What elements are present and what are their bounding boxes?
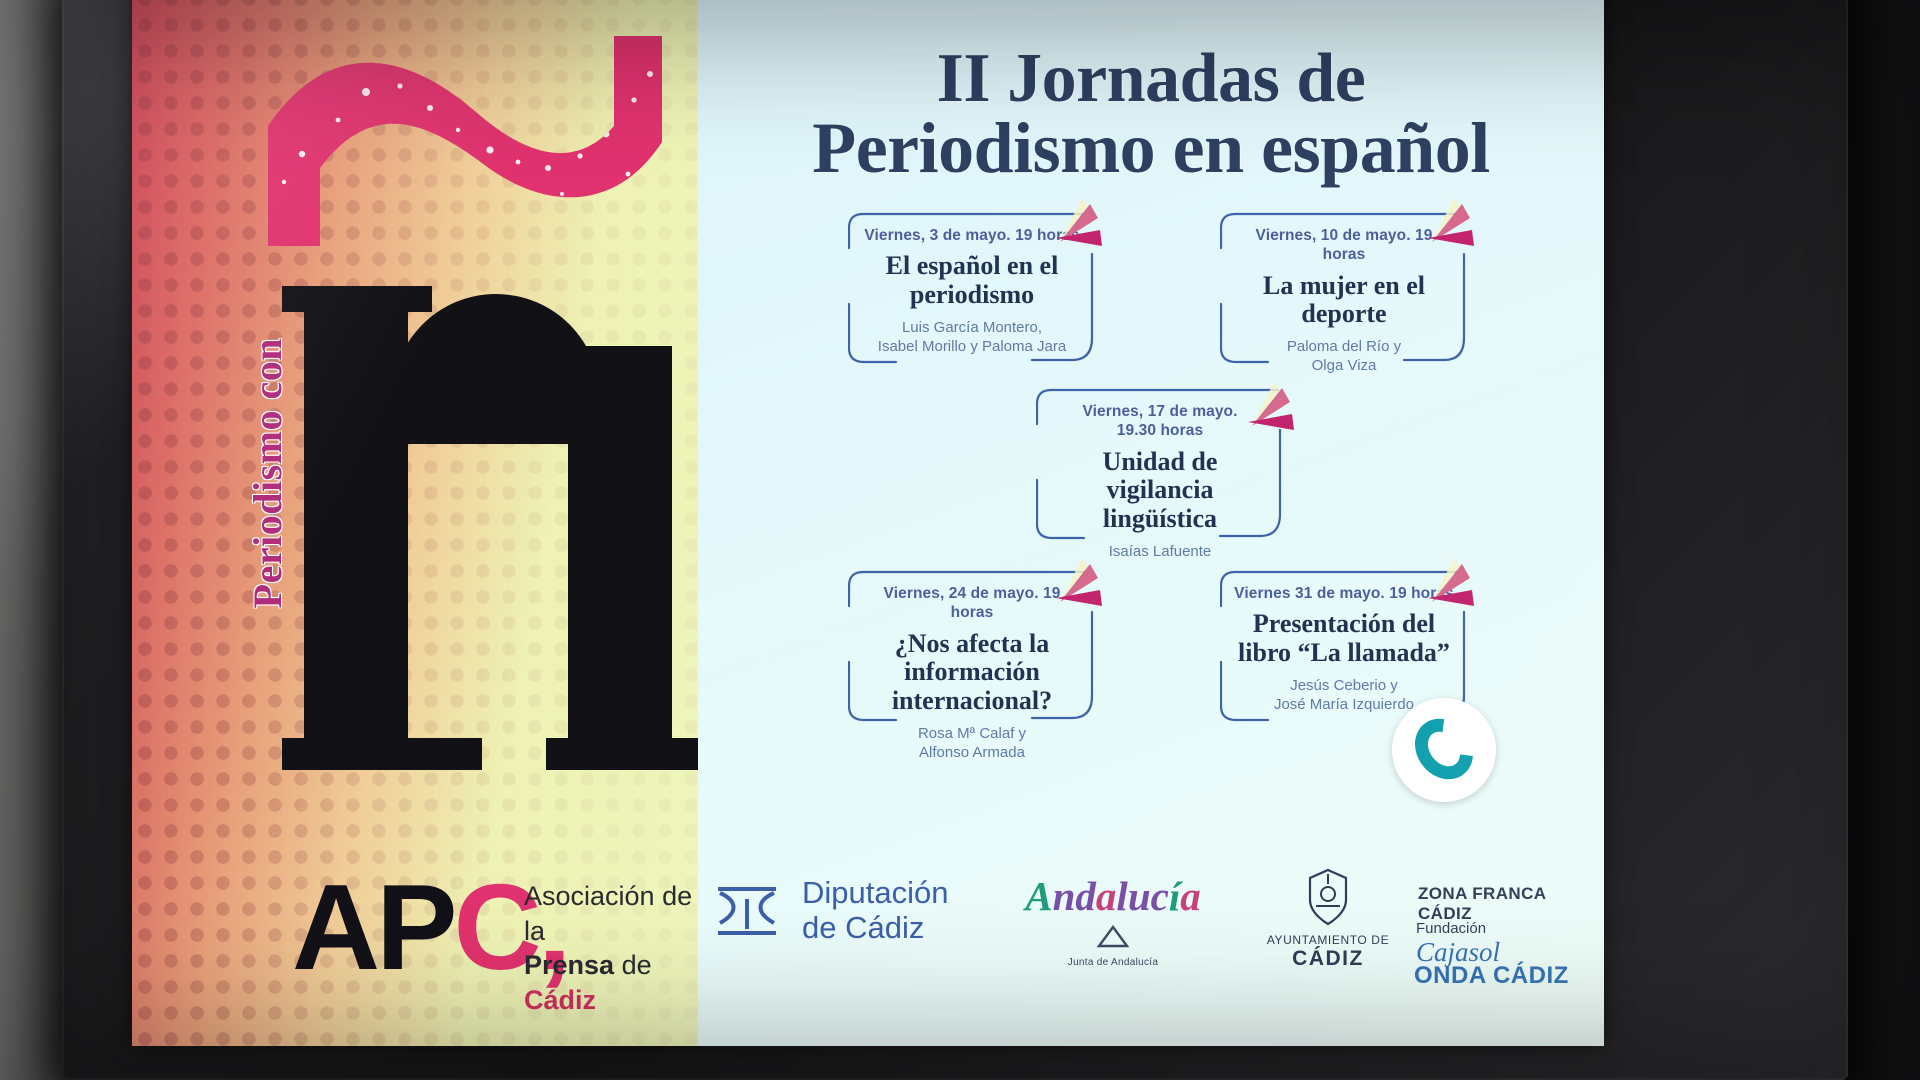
apc-logo-ap: AP [292,859,453,995]
event-speakers: Rosa Mª Calaf yAlfonso Armada [862,724,1082,763]
cadiz-coat-of-arms-icon [1302,866,1354,928]
diputacion-emblem-icon [708,879,786,943]
event-speaker-line: Alfonso Armada [862,743,1082,763]
sponsor-ayuntamiento-top: AYUNTAMIENTO DE [1267,933,1389,947]
sponsor-logo-row: Diputación de Cádiz Andalucía Junta de A [698,858,1604,1046]
apc-subtitle-cadiz: Cádiz [524,985,596,1015]
event-title: El español en el periodismo [862,252,1082,309]
sponsor-fundacion-cajasol: Fundación Cajasol [1416,920,1604,968]
sponsor-onda-prefix: ONDA [1414,962,1486,989]
event-speaker-line: Rosa Mª Calaf y [862,724,1082,744]
poster-title-line1: II Jornadas de [937,40,1366,117]
sponsor-zona-franca: ZONA FRANCA CÁDIZ [1418,884,1604,924]
fan-decoration-icon [1232,378,1306,438]
apc-logo-subtitle: Asociación de la Prensa de Cádiz [524,879,698,1017]
event-speaker-line: Isabel Morillo y Paloma Jara [862,337,1082,357]
event-speaker-line: Olga Viza [1234,356,1454,376]
apc-subtitle-line1: Asociación de la [524,879,698,948]
vertical-tagline: Periodismo con [244,338,291,608]
screenshot-stage: Periodismo con APC, Asociación de la Pre… [0,0,1920,1080]
fan-decoration-icon [1412,554,1486,614]
fan-decoration-icon [1040,194,1114,254]
sponsor-ayuntamiento-city: CÁDIZ [1238,947,1418,971]
tv-bezel: Periodismo con APC, Asociación de la Pre… [62,0,1848,1080]
event-speakers: Paloma del Río yOlga Viza [1234,337,1454,376]
event-card: Viernes, 3 de mayo. 19 horasEl español e… [848,208,1096,357]
event-speaker-line: Jesús Ceberio y [1234,676,1454,696]
enye-glyph [282,286,698,826]
apc-subtitle-line2: Prensa de Cádiz [524,948,698,1017]
event-speakers: Luis García Montero,Isabel Morillo y Pal… [862,318,1082,357]
pink-wave-ribbon-icon [262,34,698,249]
sponsor-andalucia-wordmark: Andalucía [998,872,1228,920]
poster: Periodismo con APC, Asociación de la Pre… [132,0,1604,1046]
sponsor-onda-suffix: CÁDIZ [1493,962,1569,989]
sponsor-junta-andalucia: Andalucía Junta de Andalucía [998,872,1228,968]
sponsor-diputacion-cadiz: Diputación de Cádiz [708,876,998,945]
event-title: ¿Nos afecta la información internacional… [862,630,1082,716]
sponsor-diputacion-line2: de Cádiz [802,911,948,946]
event-speaker-line: Luis García Montero, [862,318,1082,338]
event-card: Viernes, 10 de mayo. 19 horasLa mujer en… [1220,208,1468,376]
event-title: La mujer en el deporte [1234,272,1454,329]
sponsor-onda-cadiz: ONDA CÁDIZ [1414,962,1604,990]
sponsor-zona-franca-line1: ZONA FRANCA [1418,884,1604,904]
poster-title: II Jornadas de Periodismo en español [698,44,1604,185]
apc-subtitle-prensa: Prensa [524,950,614,980]
apc-subtitle-de: de [614,950,652,980]
sponsor-ayuntamiento-cadiz: AYUNTAMIENTO DE CÁDIZ [1238,866,1418,971]
fan-decoration-icon [1040,554,1114,614]
sponsor-diputacion-line1: Diputación [802,876,948,911]
event-card: Viernes, 17 de mayo.19.30 horasUnidad de… [1036,384,1284,561]
fan-decoration-icon [1412,194,1486,254]
tv-screen: Periodismo con APC, Asociación de la Pre… [62,0,1848,1080]
c-channel-watermark-icon [1392,698,1496,802]
poster-title-line2: Periodismo en español [698,113,1604,184]
sponsor-ayuntamiento-text: AYUNTAMIENTO DE CÁDIZ [1238,933,1418,971]
event-title: Presentación del libro “La llamada” [1234,610,1454,667]
poster-left-panel: Periodismo con APC, Asociación de la Pre… [132,0,698,1046]
event-speaker-line: Paloma del Río y [1234,337,1454,357]
sponsor-junta-label: Junta de Andalucía [998,957,1228,968]
event-title: Unidad de vigilancia lingüística [1050,448,1270,534]
event-card: Viernes 31 de mayo. 19 horasPresentación… [1220,566,1468,715]
sponsor-fundacion-label: Fundación [1416,920,1604,937]
junta-andalucia-icon [1093,924,1133,950]
event-card: Viernes, 24 de mayo. 19 horas¿Nos afecta… [848,566,1096,763]
